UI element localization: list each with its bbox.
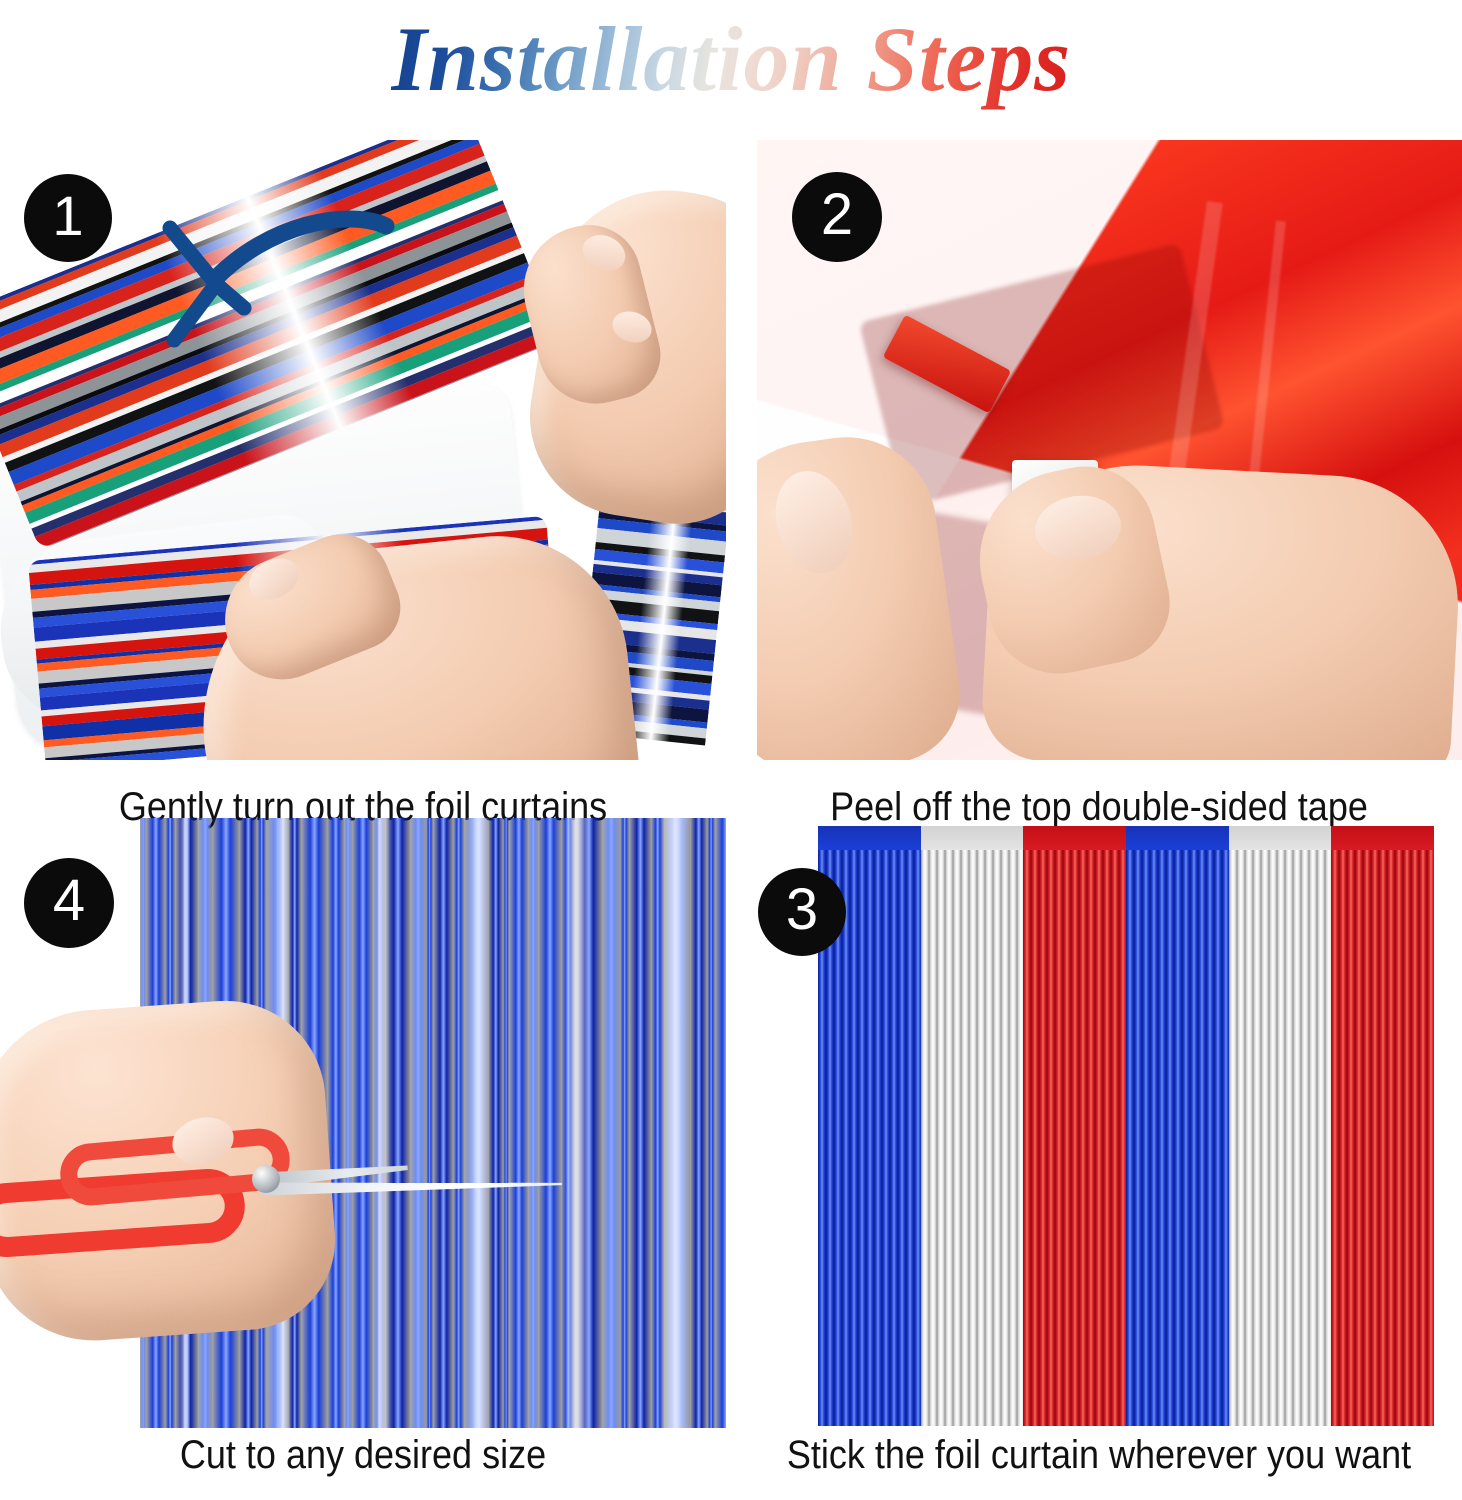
page-title-text: Installation Steps bbox=[391, 8, 1071, 110]
step-card-1: 1 Gently turn out the foil curtains bbox=[0, 140, 726, 840]
foil-strand bbox=[433, 818, 453, 1428]
step-3-photo bbox=[818, 826, 1434, 1426]
step-3-caption: Stick the foil curtain wherever you want bbox=[772, 1433, 1425, 1478]
curved-arrow-icon bbox=[118, 188, 418, 388]
foil-strand bbox=[327, 818, 344, 1428]
step-card-3: 3 Stick the foil curtain wherever you wa… bbox=[736, 818, 1462, 1500]
scissors-pivot-screw bbox=[252, 1165, 280, 1193]
curtain-panel-blue bbox=[1126, 826, 1229, 1426]
foil-strand bbox=[488, 818, 503, 1428]
step-badge-4-number: 4 bbox=[53, 872, 85, 930]
foil-strand bbox=[528, 818, 538, 1428]
page-title: Installation Steps Installation Steps bbox=[391, 13, 1071, 105]
step-badge-2: 2 bbox=[792, 172, 882, 262]
step-badge-4: 4 bbox=[24, 858, 114, 948]
curtain-panel-silver bbox=[921, 826, 1024, 1426]
fringe-curtain-panels bbox=[818, 826, 1434, 1426]
step-4-caption: Cut to any desired size bbox=[36, 1433, 689, 1478]
fringe-strands bbox=[1023, 826, 1126, 1426]
curtain-panel-red bbox=[1023, 826, 1126, 1426]
page-header: Installation Steps Installation Steps bbox=[0, 0, 1462, 118]
curtain-header-strip bbox=[1023, 826, 1126, 850]
foil-strand bbox=[538, 818, 561, 1428]
foil-strand bbox=[602, 818, 620, 1428]
foil-strand bbox=[629, 818, 651, 1428]
foil-strand bbox=[715, 818, 726, 1428]
foil-strand bbox=[620, 818, 629, 1428]
fringe-strands bbox=[1331, 826, 1434, 1426]
foil-strand bbox=[690, 818, 707, 1428]
step-badge-3: 3 bbox=[758, 868, 846, 956]
step-card-2: 2 Peel off the top double-sided tape bbox=[736, 140, 1462, 840]
foil-strand bbox=[509, 818, 528, 1428]
step-badge-1: 1 bbox=[24, 174, 112, 262]
fringe-strands bbox=[921, 826, 1024, 1426]
step-badge-1-number: 1 bbox=[52, 188, 83, 244]
step-card-4: 4 Cut to any desired size bbox=[0, 818, 726, 1500]
curtain-panel-red bbox=[1331, 826, 1434, 1426]
foil-highlight bbox=[468, 818, 490, 1428]
curtain-panel-silver bbox=[1229, 826, 1332, 1426]
fringe-strands bbox=[1229, 826, 1332, 1426]
curtain-header-strip bbox=[1126, 826, 1229, 850]
step-badge-2-number: 2 bbox=[821, 186, 853, 244]
curtain-header-strip bbox=[1229, 826, 1332, 850]
step-badge-3-number: 3 bbox=[786, 881, 818, 939]
foil-highlight bbox=[660, 818, 690, 1428]
foil-strand bbox=[426, 818, 433, 1428]
installation-steps-infographic: Installation Steps Installation Steps bbox=[0, 0, 1462, 1500]
curtain-header-strip bbox=[921, 826, 1024, 850]
foil-highlight bbox=[564, 818, 590, 1428]
curtain-header-strip bbox=[818, 826, 921, 850]
foil-strand bbox=[707, 818, 715, 1428]
curtain-header-strip bbox=[1331, 826, 1434, 850]
steps-grid: 1 Gently turn out the foil curtains bbox=[0, 118, 1462, 1500]
foil-strand bbox=[344, 818, 352, 1428]
foil-strand bbox=[410, 818, 426, 1428]
foil-highlight bbox=[372, 818, 390, 1428]
fringe-strands bbox=[1126, 826, 1229, 1426]
foil-strand bbox=[352, 818, 373, 1428]
foil-strand bbox=[453, 818, 464, 1428]
